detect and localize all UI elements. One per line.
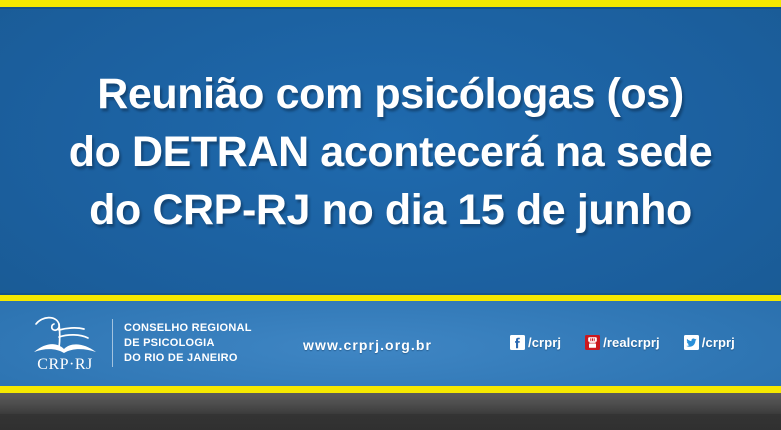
headline-line-3: do CRP-RJ no dia 15 de junho — [69, 181, 713, 239]
facebook-handle: /crprj — [528, 335, 561, 350]
logo-wordmark: CRP·RJ — [37, 356, 92, 373]
bottom-dark-bar — [0, 393, 781, 430]
social-link-youtube[interactable]: /realcrprj — [585, 335, 660, 350]
twitter-handle: /crprj — [702, 335, 735, 350]
facebook-icon — [510, 335, 525, 350]
social-link-twitter[interactable]: /crprj — [684, 335, 735, 350]
headline-line-2: do DETRAN acontecerá na sede — [69, 123, 713, 181]
organization-name: CONSELHO REGIONAL DE PSICOLOGIA DO RIO D… — [124, 321, 252, 366]
crp-rj-announcement-banner: Reunião com psicólogas (os) do DETRAN ac… — [0, 0, 781, 430]
footer-bar: CRP·RJ CONSELHO REGIONAL DE PSICOLOGIA D… — [0, 301, 781, 386]
org-line-3: DO RIO DE JANEIRO — [124, 351, 252, 366]
bottom-yellow-rule — [0, 386, 781, 393]
youtube-icon — [585, 335, 600, 350]
crp-rj-logo-icon: CRP·RJ — [26, 312, 104, 374]
headline-area: Reunião com psicólogas (os) do DETRAN ac… — [0, 9, 781, 295]
top-yellow-rule — [0, 0, 781, 7]
twitter-icon — [684, 335, 699, 350]
social-link-facebook[interactable]: /crprj — [510, 335, 561, 350]
youtube-handle: /realcrprj — [603, 335, 660, 350]
page-title: Reunião com psicólogas (os) do DETRAN ac… — [55, 65, 727, 239]
headline-line-1: Reunião com psicólogas (os) — [69, 65, 713, 123]
website-url[interactable]: www.crprj.org.br — [303, 337, 432, 353]
social-links: /crprj /realcrprj / — [510, 335, 735, 350]
brand-block: CRP·RJ CONSELHO REGIONAL DE PSICOLOGIA D… — [26, 309, 252, 377]
logo-book-shape — [34, 344, 96, 353]
org-line-1: CONSELHO REGIONAL — [124, 321, 252, 336]
org-line-2: DE PSICOLOGIA — [124, 336, 252, 351]
brand-divider — [112, 319, 113, 367]
